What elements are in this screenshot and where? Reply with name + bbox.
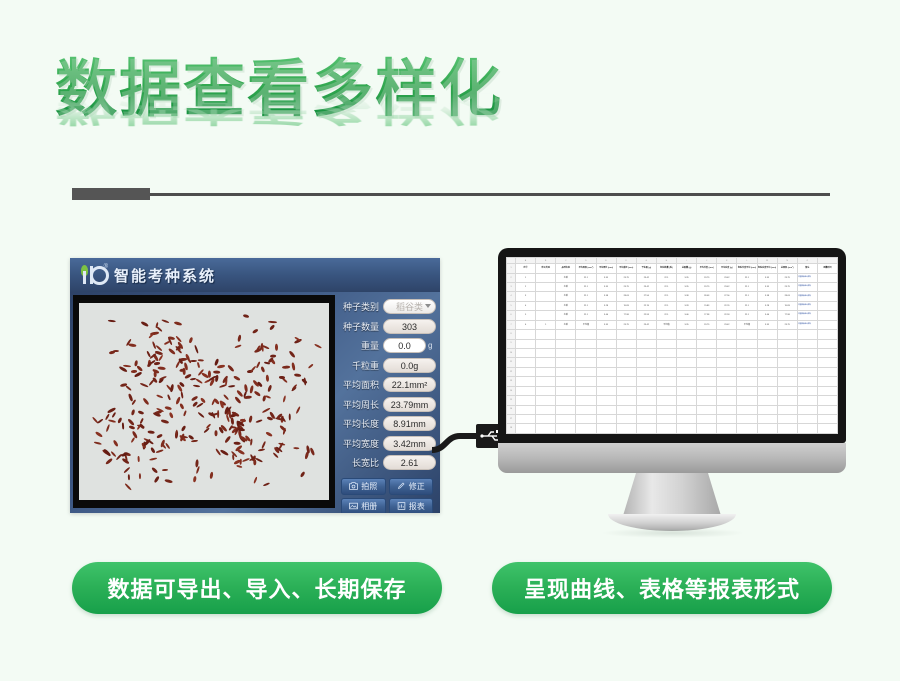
table-cell[interactable]: 22.1 bbox=[576, 292, 596, 301]
table-cell[interactable] bbox=[636, 396, 656, 405]
spreadsheet-row-number[interactable]: 1 bbox=[507, 264, 516, 273]
spreadsheet-row-number[interactable]: 4 bbox=[507, 292, 516, 301]
table-cell[interactable]: 3.28 bbox=[596, 301, 616, 310]
table-cell[interactable] bbox=[596, 424, 616, 434]
table-cell[interactable] bbox=[717, 405, 737, 414]
table-cell[interactable] bbox=[576, 396, 596, 405]
table-cell[interactable] bbox=[536, 377, 556, 386]
table-cell[interactable]: 平均值 bbox=[737, 320, 757, 329]
table-cell[interactable]: 4 bbox=[516, 301, 536, 310]
table-cell[interactable] bbox=[636, 424, 656, 434]
table-cell[interactable] bbox=[737, 414, 757, 423]
table-cell[interactable]: 22.1 bbox=[656, 273, 676, 282]
table-cell[interactable] bbox=[516, 424, 536, 434]
table-cell[interactable] bbox=[536, 424, 556, 434]
spreadsheet-note-cell[interactable]: 测量数据自动保存 bbox=[797, 273, 817, 282]
spreadsheet-note-cell[interactable]: 测量数据自动保存 bbox=[797, 311, 817, 320]
table-cell[interactable]: 3 bbox=[516, 292, 536, 301]
table-cell[interactable]: 70.83 bbox=[616, 301, 636, 310]
table-cell[interactable]: 3.35 bbox=[596, 320, 616, 329]
spreadsheet-row-number[interactable]: 9 bbox=[507, 339, 516, 348]
table-cell[interactable]: 5 bbox=[516, 311, 536, 320]
table-cell[interactable] bbox=[777, 358, 797, 367]
table-cell[interactable] bbox=[556, 377, 576, 386]
table-cell[interactable]: 3.28 bbox=[757, 301, 777, 310]
table-cell[interactable] bbox=[697, 367, 717, 376]
table-cell[interactable] bbox=[576, 386, 596, 395]
table-row[interactable]: 21水稻22.13.3523.7923.4222.13.3523.7923.42… bbox=[507, 273, 838, 282]
table-cell[interactable] bbox=[536, 283, 556, 292]
table-cell[interactable]: 3.46 bbox=[757, 311, 777, 320]
table-cell[interactable] bbox=[777, 396, 797, 405]
table-cell[interactable] bbox=[797, 424, 817, 434]
spreadsheet-row-number[interactable]: 16 bbox=[507, 405, 516, 414]
table-cell[interactable]: 77.98 bbox=[697, 311, 717, 320]
table-cell[interactable] bbox=[697, 358, 717, 367]
seed-category-dropdown[interactable]: 稻谷类 bbox=[383, 299, 436, 314]
table-cell[interactable] bbox=[697, 396, 717, 405]
table-row[interactable]: 761水稻平均值3.3523.7923.42平均值3.3523.7923.42平… bbox=[507, 320, 838, 329]
table-cell[interactable] bbox=[817, 367, 837, 376]
table-cell[interactable] bbox=[576, 377, 596, 386]
table-cell[interactable] bbox=[656, 396, 676, 405]
table-cell[interactable]: 23.42 bbox=[717, 283, 737, 292]
table-cell[interactable] bbox=[656, 405, 676, 414]
table-cell[interactable] bbox=[817, 396, 837, 405]
field-row-seed-category[interactable]: 种子类别 稻谷类 bbox=[339, 298, 436, 315]
table-cell[interactable]: 23.79 bbox=[777, 273, 797, 282]
table-cell[interactable] bbox=[817, 273, 837, 282]
table-row[interactable]: 10 bbox=[507, 349, 838, 358]
table-cell[interactable] bbox=[536, 414, 556, 423]
table-cell[interactable] bbox=[777, 377, 797, 386]
table-cell[interactable] bbox=[616, 330, 636, 339]
table-cell[interactable] bbox=[677, 358, 697, 367]
table-cell[interactable] bbox=[516, 349, 536, 358]
table-cell[interactable] bbox=[797, 358, 817, 367]
table-cell[interactable] bbox=[817, 283, 837, 292]
table-cell[interactable]: 2 bbox=[516, 283, 536, 292]
table-cell[interactable]: 22.1 bbox=[737, 301, 757, 310]
table-cell[interactable] bbox=[797, 386, 817, 395]
table-cell[interactable] bbox=[656, 349, 676, 358]
report-spreadsheet[interactable]: ABCDEFGHIJKLMNO1序号种子类别品种名称平均面积 (mm²)平均周长… bbox=[506, 257, 838, 434]
table-cell[interactable] bbox=[817, 358, 837, 367]
table-cell[interactable] bbox=[656, 367, 676, 376]
table-cell[interactable] bbox=[596, 330, 616, 339]
spreadsheet-row-number[interactable]: 7 bbox=[507, 320, 516, 329]
correct-button[interactable]: 修正 bbox=[389, 478, 434, 495]
table-cell[interactable] bbox=[556, 349, 576, 358]
table-cell[interactable]: 23.79 bbox=[616, 283, 636, 292]
table-cell[interactable] bbox=[817, 349, 837, 358]
table-cell[interactable] bbox=[777, 405, 797, 414]
table-cell[interactable] bbox=[777, 424, 797, 434]
table-cell[interactable] bbox=[677, 377, 697, 386]
table-cell[interactable] bbox=[536, 396, 556, 405]
table-cell[interactable]: 水稻 bbox=[556, 311, 576, 320]
table-cell[interactable] bbox=[636, 405, 656, 414]
table-cell[interactable] bbox=[516, 339, 536, 348]
table-cell[interactable] bbox=[636, 330, 656, 339]
table-cell[interactable] bbox=[576, 330, 596, 339]
table-cell[interactable] bbox=[817, 320, 837, 329]
table-cell[interactable] bbox=[697, 414, 717, 423]
spreadsheet-row-number[interactable]: 10 bbox=[507, 349, 516, 358]
table-cell[interactable] bbox=[536, 292, 556, 301]
table-cell[interactable]: 23.79 bbox=[697, 320, 717, 329]
table-cell[interactable]: 3.35 bbox=[757, 320, 777, 329]
table-cell[interactable] bbox=[616, 396, 636, 405]
table-cell[interactable]: 水稻 bbox=[556, 320, 576, 329]
table-cell[interactable]: 3.38 bbox=[677, 292, 697, 301]
spreadsheet-row-number[interactable]: 2 bbox=[507, 273, 516, 282]
table-cell[interactable] bbox=[576, 424, 596, 434]
table-cell[interactable] bbox=[697, 349, 717, 358]
table-cell[interactable]: 23.79 bbox=[777, 320, 797, 329]
table-cell[interactable] bbox=[596, 349, 616, 358]
table-cell[interactable]: 23.42 bbox=[717, 273, 737, 282]
table-cell[interactable]: 23.42 bbox=[636, 273, 656, 282]
table-cell[interactable] bbox=[536, 386, 556, 395]
table-cell[interactable] bbox=[737, 405, 757, 414]
table-cell[interactable] bbox=[717, 330, 737, 339]
table-cell[interactable] bbox=[777, 349, 797, 358]
table-cell[interactable]: 3.28 bbox=[677, 301, 697, 310]
table-cell[interactable] bbox=[697, 405, 717, 414]
table-cell[interactable] bbox=[536, 301, 556, 310]
table-cell[interactable] bbox=[717, 386, 737, 395]
table-cell[interactable]: 23.42 bbox=[717, 320, 737, 329]
table-cell[interactable] bbox=[596, 367, 616, 376]
table-cell[interactable] bbox=[516, 367, 536, 376]
table-cell[interactable] bbox=[536, 339, 556, 348]
table-cell[interactable]: 23.42 bbox=[636, 320, 656, 329]
table-cell[interactable] bbox=[817, 301, 837, 310]
spreadsheet-row-number[interactable]: 14 bbox=[507, 386, 516, 395]
table-cell[interactable] bbox=[757, 349, 777, 358]
table-cell[interactable] bbox=[797, 349, 817, 358]
table-cell[interactable] bbox=[717, 358, 737, 367]
table-cell[interactable] bbox=[697, 339, 717, 348]
table-cell[interactable]: 22.1 bbox=[576, 283, 596, 292]
table-cell[interactable] bbox=[576, 414, 596, 423]
table-cell[interactable] bbox=[516, 396, 536, 405]
table-cell[interactable] bbox=[717, 414, 737, 423]
table-row[interactable]: 8 bbox=[507, 330, 838, 339]
table-cell[interactable] bbox=[516, 414, 536, 423]
table-row[interactable]: 54水稻22.13.2870.8322.7622.13.2870.8322.76… bbox=[507, 301, 838, 310]
table-cell[interactable] bbox=[757, 405, 777, 414]
table-cell[interactable]: 3.35 bbox=[677, 273, 697, 282]
table-cell[interactable]: 23.79 bbox=[616, 273, 636, 282]
table-cell[interactable] bbox=[797, 405, 817, 414]
table-cell[interactable] bbox=[516, 377, 536, 386]
table-cell[interactable]: 3.38 bbox=[757, 292, 777, 301]
table-cell[interactable] bbox=[797, 339, 817, 348]
table-cell[interactable] bbox=[656, 377, 676, 386]
table-cell[interactable]: 22.93 bbox=[636, 311, 656, 320]
table-cell[interactable] bbox=[656, 414, 676, 423]
table-cell[interactable] bbox=[717, 339, 737, 348]
table-cell[interactable] bbox=[737, 330, 757, 339]
weight-input[interactable]: 0.0 bbox=[383, 338, 426, 353]
table-cell[interactable] bbox=[616, 358, 636, 367]
table-cell[interactable] bbox=[616, 386, 636, 395]
table-cell[interactable] bbox=[656, 386, 676, 395]
spreadsheet-row-number[interactable]: 17 bbox=[507, 414, 516, 423]
table-cell[interactable]: 3.35 bbox=[596, 273, 616, 282]
spreadsheet-row-number[interactable]: 5 bbox=[507, 301, 516, 310]
table-cell[interactable]: 22.1 bbox=[656, 301, 676, 310]
table-cell[interactable] bbox=[817, 339, 837, 348]
table-cell[interactable]: 22.1 bbox=[737, 292, 757, 301]
table-cell[interactable] bbox=[596, 396, 616, 405]
table-cell[interactable] bbox=[636, 414, 656, 423]
table-cell[interactable]: 22.1 bbox=[576, 301, 596, 310]
table-cell[interactable] bbox=[717, 424, 737, 434]
table-row[interactable]: 17 bbox=[507, 414, 838, 423]
table-cell[interactable] bbox=[536, 405, 556, 414]
table-cell[interactable]: 3.35 bbox=[596, 283, 616, 292]
table-cell[interactable]: 3.46 bbox=[677, 311, 697, 320]
table-cell[interactable]: 1 bbox=[536, 320, 556, 329]
table-cell[interactable] bbox=[556, 386, 576, 395]
table-cell[interactable]: 27.56 bbox=[636, 292, 656, 301]
table-cell[interactable] bbox=[757, 414, 777, 423]
table-cell[interactable] bbox=[636, 386, 656, 395]
table-cell[interactable] bbox=[737, 349, 757, 358]
table-cell[interactable] bbox=[596, 414, 616, 423]
table-cell[interactable]: 28.03 bbox=[616, 292, 636, 301]
table-cell[interactable]: 22.1 bbox=[656, 292, 676, 301]
table-cell[interactable] bbox=[656, 358, 676, 367]
table-cell[interactable] bbox=[677, 330, 697, 339]
spreadsheet-row-number[interactable]: 3 bbox=[507, 283, 516, 292]
table-cell[interactable] bbox=[817, 377, 837, 386]
table-cell[interactable] bbox=[817, 386, 837, 395]
table-cell[interactable]: 22.1 bbox=[576, 311, 596, 320]
table-cell[interactable] bbox=[516, 386, 536, 395]
table-cell[interactable] bbox=[616, 405, 636, 414]
album-button[interactable]: 相册 bbox=[341, 498, 386, 514]
table-cell[interactable] bbox=[757, 339, 777, 348]
table-cell[interactable] bbox=[817, 405, 837, 414]
table-cell[interactable] bbox=[737, 377, 757, 386]
table-cell[interactable] bbox=[636, 339, 656, 348]
table-cell[interactable] bbox=[717, 396, 737, 405]
table-cell[interactable] bbox=[677, 339, 697, 348]
table-cell[interactable] bbox=[556, 358, 576, 367]
spreadsheet-row-number[interactable]: 15 bbox=[507, 396, 516, 405]
table-cell[interactable] bbox=[717, 377, 737, 386]
table-cell[interactable]: 1 bbox=[516, 273, 536, 282]
table-cell[interactable]: 3.35 bbox=[757, 283, 777, 292]
table-cell[interactable] bbox=[516, 330, 536, 339]
table-cell[interactable]: 70.83 bbox=[777, 301, 797, 310]
table-cell[interactable] bbox=[536, 311, 556, 320]
table-cell[interactable] bbox=[536, 349, 556, 358]
table-cell[interactable] bbox=[616, 349, 636, 358]
table-cell[interactable]: 22.76 bbox=[717, 301, 737, 310]
table-cell[interactable] bbox=[777, 330, 797, 339]
table-cell[interactable]: 22.76 bbox=[636, 301, 656, 310]
table-cell[interactable]: 28.03 bbox=[777, 292, 797, 301]
table-cell[interactable] bbox=[677, 367, 697, 376]
table-cell[interactable]: 23.79 bbox=[777, 283, 797, 292]
table-cell[interactable]: 水稻 bbox=[556, 273, 576, 282]
table-cell[interactable]: 22.93 bbox=[717, 311, 737, 320]
table-cell[interactable] bbox=[596, 339, 616, 348]
table-cell[interactable] bbox=[516, 358, 536, 367]
table-cell[interactable]: 28.03 bbox=[697, 292, 717, 301]
table-row[interactable]: 11 bbox=[507, 358, 838, 367]
table-cell[interactable] bbox=[677, 405, 697, 414]
spreadsheet-row-number[interactable]: 13 bbox=[507, 377, 516, 386]
table-cell[interactable] bbox=[817, 330, 837, 339]
spreadsheet-row-number[interactable]: 12 bbox=[507, 367, 516, 376]
table-cell[interactable] bbox=[556, 367, 576, 376]
table-cell[interactable] bbox=[576, 367, 596, 376]
table-cell[interactable]: 3.38 bbox=[596, 292, 616, 301]
table-row[interactable]: 9 bbox=[507, 339, 838, 348]
table-cell[interactable] bbox=[636, 367, 656, 376]
table-cell[interactable] bbox=[636, 377, 656, 386]
table-cell[interactable] bbox=[556, 330, 576, 339]
table-cell[interactable]: 3.35 bbox=[677, 283, 697, 292]
table-cell[interactable] bbox=[616, 424, 636, 434]
table-cell[interactable]: 水稻 bbox=[556, 292, 576, 301]
table-cell[interactable] bbox=[717, 367, 737, 376]
table-cell[interactable] bbox=[757, 367, 777, 376]
table-cell[interactable] bbox=[777, 414, 797, 423]
table-cell[interactable]: 77.98 bbox=[616, 311, 636, 320]
table-cell[interactable] bbox=[797, 377, 817, 386]
table-cell[interactable]: 22.1 bbox=[737, 273, 757, 282]
table-row[interactable]: 12 bbox=[507, 367, 838, 376]
table-cell[interactable] bbox=[576, 339, 596, 348]
table-cell[interactable] bbox=[636, 349, 656, 358]
table-cell[interactable] bbox=[596, 405, 616, 414]
table-cell[interactable] bbox=[797, 367, 817, 376]
report-button[interactable]: 报表 bbox=[389, 498, 434, 514]
table-cell[interactable]: 22.1 bbox=[737, 311, 757, 320]
table-cell[interactable] bbox=[737, 358, 757, 367]
table-cell[interactable] bbox=[817, 311, 837, 320]
table-cell[interactable] bbox=[717, 349, 737, 358]
table-cell[interactable] bbox=[616, 367, 636, 376]
table-cell[interactable] bbox=[757, 358, 777, 367]
table-cell[interactable]: 27.56 bbox=[717, 292, 737, 301]
table-cell[interactable] bbox=[616, 377, 636, 386]
table-cell[interactable]: 水稻 bbox=[556, 301, 576, 310]
table-cell[interactable] bbox=[677, 424, 697, 434]
table-cell[interactable] bbox=[536, 367, 556, 376]
spreadsheet-note-cell[interactable]: 测量数据自动保存 bbox=[797, 292, 817, 301]
table-cell[interactable] bbox=[817, 424, 837, 434]
table-cell[interactable] bbox=[697, 386, 717, 395]
table-cell[interactable] bbox=[817, 414, 837, 423]
capture-photo-button[interactable]: 拍照 bbox=[341, 478, 386, 495]
table-row[interactable]: 65水稻22.13.4677.9822.9322.13.4677.9822.93… bbox=[507, 311, 838, 320]
table-cell[interactable]: 23.79 bbox=[697, 273, 717, 282]
table-row[interactable]: 32水稻22.13.3523.7923.4222.13.3523.7923.42… bbox=[507, 283, 838, 292]
table-cell[interactable] bbox=[576, 405, 596, 414]
table-cell[interactable] bbox=[677, 414, 697, 423]
table-row[interactable]: 14 bbox=[507, 386, 838, 395]
table-cell[interactable] bbox=[777, 386, 797, 395]
table-cell[interactable] bbox=[797, 396, 817, 405]
spreadsheet-row-number[interactable]: 6 bbox=[507, 311, 516, 320]
table-cell[interactable] bbox=[576, 358, 596, 367]
table-cell[interactable]: 22.1 bbox=[656, 311, 676, 320]
table-cell[interactable]: 平均值 bbox=[656, 320, 676, 329]
table-cell[interactable] bbox=[656, 339, 676, 348]
table-cell[interactable] bbox=[556, 339, 576, 348]
table-cell[interactable]: 23.79 bbox=[616, 320, 636, 329]
table-cell[interactable] bbox=[656, 330, 676, 339]
spreadsheet-row-number[interactable]: 8 bbox=[507, 330, 516, 339]
table-cell[interactable]: 70.83 bbox=[697, 301, 717, 310]
table-cell[interactable]: 23.79 bbox=[697, 283, 717, 292]
table-cell[interactable] bbox=[656, 424, 676, 434]
table-cell[interactable] bbox=[576, 349, 596, 358]
table-cell[interactable] bbox=[677, 349, 697, 358]
table-cell[interactable] bbox=[616, 339, 636, 348]
table-cell[interactable] bbox=[536, 330, 556, 339]
table-cell[interactable]: 22.1 bbox=[656, 283, 676, 292]
table-cell[interactable] bbox=[697, 424, 717, 434]
table-cell[interactable] bbox=[677, 386, 697, 395]
table-cell[interactable] bbox=[737, 424, 757, 434]
table-cell[interactable]: 77.98 bbox=[777, 311, 797, 320]
table-cell[interactable] bbox=[757, 396, 777, 405]
table-cell[interactable]: 3.35 bbox=[677, 320, 697, 329]
table-cell[interactable] bbox=[536, 273, 556, 282]
field-row-weight[interactable]: 重量 0.0 g bbox=[339, 337, 436, 354]
table-cell[interactable] bbox=[757, 386, 777, 395]
table-cell[interactable] bbox=[596, 358, 616, 367]
table-row[interactable]: 43水稻22.13.3828.0327.5622.13.3828.0327.56… bbox=[507, 292, 838, 301]
table-cell[interactable] bbox=[556, 424, 576, 434]
table-cell[interactable]: 3.46 bbox=[596, 311, 616, 320]
table-cell[interactable]: 22.1 bbox=[737, 283, 757, 292]
table-cell[interactable]: 平均值 bbox=[576, 320, 596, 329]
table-cell[interactable] bbox=[636, 358, 656, 367]
table-cell[interactable] bbox=[757, 330, 777, 339]
spreadsheet-note-cell[interactable]: 测量数据自动保存 bbox=[797, 283, 817, 292]
table-cell[interactable] bbox=[556, 414, 576, 423]
table-row[interactable]: 15 bbox=[507, 396, 838, 405]
table-cell[interactable]: 6 bbox=[516, 320, 536, 329]
table-cell[interactable]: 水稻 bbox=[556, 283, 576, 292]
table-cell[interactable] bbox=[777, 339, 797, 348]
table-cell[interactable] bbox=[737, 339, 757, 348]
table-cell[interactable]: 3.35 bbox=[757, 273, 777, 282]
spreadsheet-row-number[interactable]: 11 bbox=[507, 358, 516, 367]
spreadsheet-note-cell[interactable]: 测量数据自动保存 bbox=[797, 320, 817, 329]
table-cell[interactable]: 22.1 bbox=[576, 273, 596, 282]
table-cell[interactable] bbox=[677, 396, 697, 405]
table-cell[interactable] bbox=[556, 396, 576, 405]
table-cell[interactable] bbox=[697, 377, 717, 386]
table-cell[interactable] bbox=[596, 386, 616, 395]
table-cell[interactable] bbox=[757, 424, 777, 434]
table-cell[interactable] bbox=[697, 330, 717, 339]
table-cell[interactable] bbox=[777, 367, 797, 376]
table-cell[interactable] bbox=[797, 330, 817, 339]
table-cell[interactable] bbox=[616, 414, 636, 423]
